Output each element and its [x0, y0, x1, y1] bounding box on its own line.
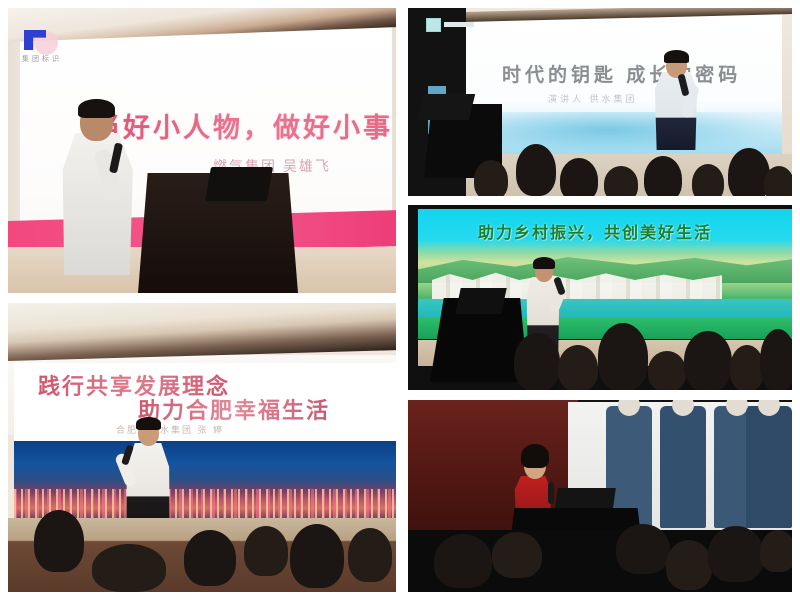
slide-title: 时代的钥匙 成长的密码: [502, 60, 741, 87]
audience-head: [244, 526, 288, 576]
slide-title-line2: 助力合肥幸福生活: [138, 393, 330, 425]
slide-subtitle: 演讲人 供水集团: [548, 92, 638, 105]
slide-title: 助力乡村振兴，共创美好生活: [478, 219, 712, 243]
speaker-hair: [78, 99, 115, 118]
photo-collage: 集团标识 当好小人物，做好小事 燃气集团 吴雄飞 时代的钥匙 成长的密码 演讲人…: [0, 0, 800, 600]
audience-head: [92, 544, 166, 592]
audience-head: [474, 160, 508, 196]
audience-head: [760, 530, 792, 572]
audience-head: [644, 156, 682, 196]
slide-worker-figure: [746, 406, 792, 528]
slide-title: 当好小人物，做好小事: [93, 106, 393, 145]
speaker-hair: [521, 444, 549, 468]
slide-logo-icon: [426, 18, 478, 32]
speaker-hair: [664, 50, 689, 63]
audience-head: [604, 166, 638, 196]
slide-logo-label: 集团标识: [22, 54, 62, 64]
audience-head: [648, 351, 686, 390]
audience-head: [34, 510, 84, 572]
ceiling-beam: [8, 303, 396, 361]
audience-head: [560, 158, 598, 196]
photo-bottom-right[interactable]: [408, 400, 792, 592]
audience-head: [558, 345, 598, 390]
laptop-icon: [455, 288, 507, 314]
audience-head: [708, 526, 764, 582]
photo-top-left[interactable]: 集团标识 当好小人物，做好小事 燃气集团 吴雄飞: [8, 8, 396, 293]
slide-subtitle: 合肥市排水集团 张 婷: [116, 423, 224, 436]
audience-head: [434, 534, 492, 588]
photo-middle-right[interactable]: 助力乡村振兴，共创美好生活: [408, 205, 792, 390]
speaker-hair: [533, 257, 555, 269]
audience-head: [764, 166, 792, 196]
audience-head: [184, 530, 236, 586]
audience-head: [760, 329, 792, 390]
audience-head: [666, 540, 712, 590]
slide-logo-icon: 集团标识: [20, 28, 62, 60]
laptop-icon: [417, 94, 475, 120]
speaker-hair: [136, 417, 161, 430]
audience-head: [616, 524, 670, 574]
audience-head: [516, 144, 556, 196]
slide-worker-figure: [660, 406, 706, 528]
audience-head: [684, 331, 732, 390]
photo-top-right[interactable]: 时代的钥匙 成长的密码 演讲人 供水集团: [408, 8, 792, 196]
photo-bottom-left[interactable]: 践行共享发展理念 助力合肥幸福生活 合肥市排水集团 张 婷: [8, 303, 396, 592]
microphone-icon: [548, 482, 554, 504]
audience-head: [730, 345, 764, 390]
audience-head: [514, 333, 560, 390]
audience-head: [692, 164, 724, 196]
slide-water-graphic: [464, 112, 782, 156]
audience-head: [598, 323, 648, 390]
audience-head: [290, 524, 344, 588]
audience-head: [492, 532, 542, 578]
laptop-icon: [205, 167, 273, 201]
audience-head: [348, 528, 392, 582]
